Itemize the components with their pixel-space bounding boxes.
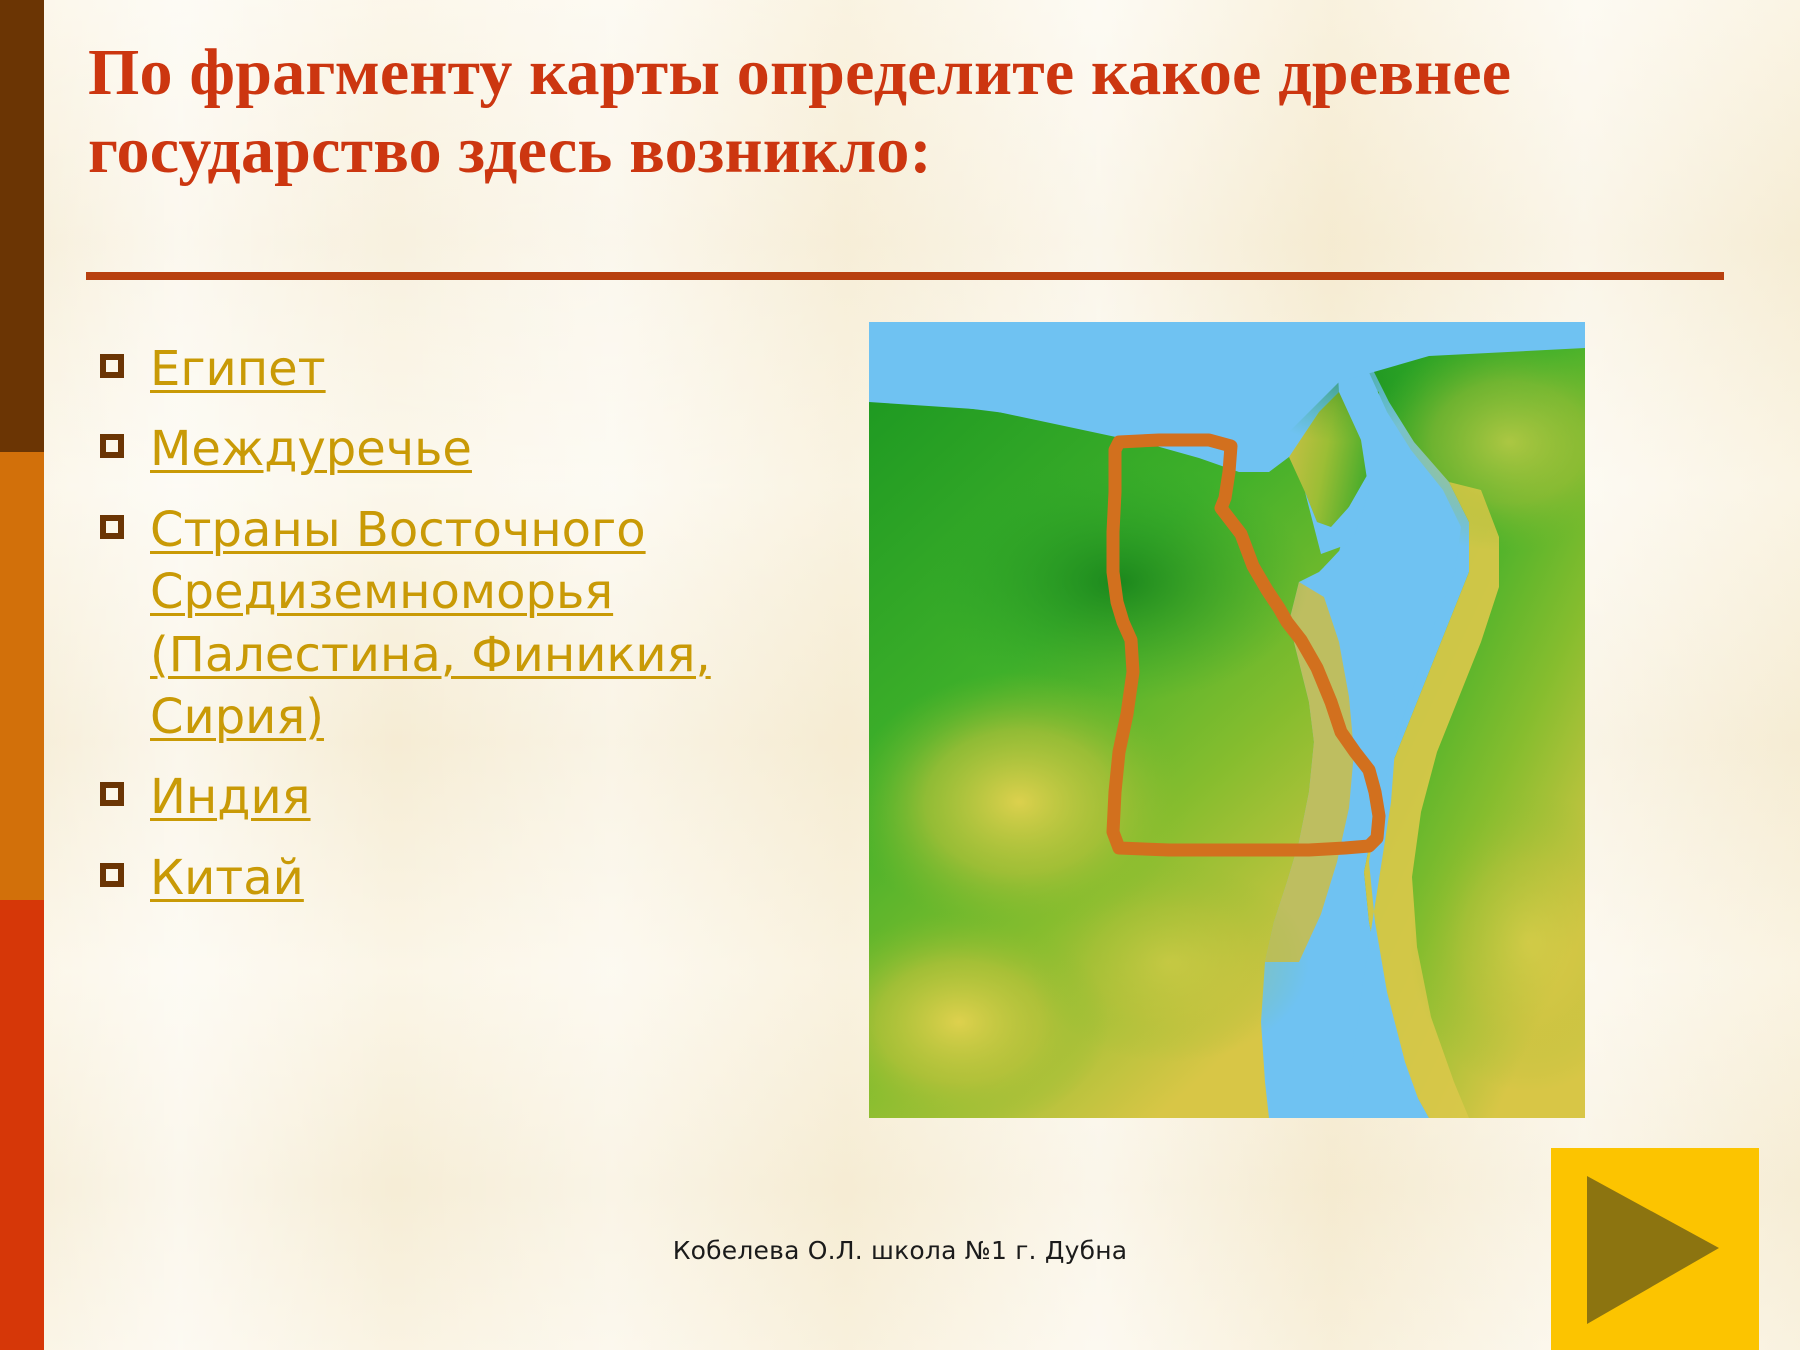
play-triangle-icon (1551, 1148, 1759, 1350)
list-item[interactable]: Междуречье (100, 418, 760, 480)
next-slide-button[interactable] (1551, 1148, 1759, 1350)
bullet-square-icon (100, 863, 124, 887)
list-item[interactable]: Индия (100, 766, 760, 828)
page-title: По фрагменту карты определите какое древ… (88, 34, 1728, 190)
list-item[interactable]: Египет (100, 338, 760, 400)
bullet-square-icon (100, 515, 124, 539)
slide-canvas: По фрагменту карты определите какое древ… (0, 0, 1800, 1350)
relief-highland-south (1029, 862, 1309, 1062)
answer-options-list: Египет Междуречье Страны Восточного Сред… (100, 338, 760, 927)
answer-option-eastern-mediterranean[interactable]: Страны Восточного Средиземноморья (Палес… (150, 499, 760, 749)
sidebar-band-orange (0, 452, 44, 900)
answer-option-china[interactable]: Китай (150, 847, 304, 909)
footer-credit: Кобелева О.Л. школа №1 г. Дубна (0, 1236, 1800, 1265)
bullet-square-icon (100, 782, 124, 806)
sidebar-band-red (0, 900, 44, 1350)
list-item[interactable]: Страны Восточного Средиземноморья (Палес… (100, 499, 760, 749)
map-image (869, 322, 1585, 1118)
answer-option-india[interactable]: Индия (150, 766, 311, 828)
title-divider (86, 272, 1724, 280)
answer-option-mesopotamia[interactable]: Междуречье (150, 418, 472, 480)
list-item[interactable]: Китай (100, 847, 760, 909)
sidebar-band-dark (0, 0, 44, 452)
bullet-square-icon (100, 354, 124, 378)
relief-map-svg (869, 322, 1585, 1118)
answer-option-egypt[interactable]: Египет (150, 338, 326, 400)
bullet-square-icon (100, 434, 124, 458)
sidebar-color-strip (0, 0, 44, 1350)
title-block: По фрагменту карты определите какое древ… (88, 34, 1728, 190)
